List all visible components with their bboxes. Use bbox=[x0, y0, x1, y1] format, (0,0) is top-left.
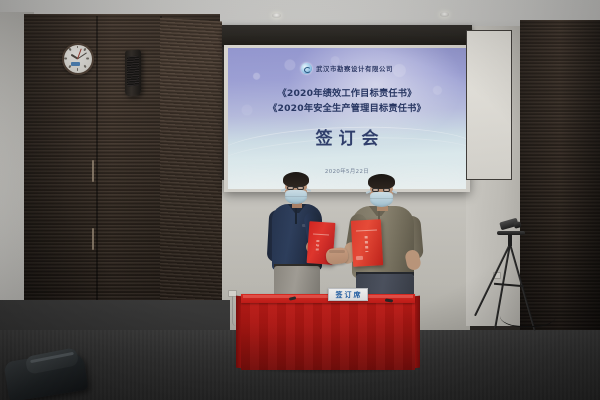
slide-document-title-2: 《2020年安全生产管理目标责任书》 bbox=[228, 100, 466, 114]
wall-clock bbox=[62, 43, 94, 75]
projector-screen: 武汉市勘察设计有限公司 《2020年绩效工作目标责任书》 《2020年安全生产管… bbox=[228, 48, 466, 189]
folder-seal bbox=[356, 256, 363, 260]
table-name-card-text: 签订席 bbox=[334, 290, 363, 300]
slide-logo-row: 武汉市勘察设计有限公司 bbox=[228, 63, 466, 74]
face-mask-icon bbox=[370, 192, 393, 207]
face-mask-fold bbox=[285, 196, 307, 197]
ceiling-spotlight-icon bbox=[440, 12, 449, 17]
company-swirl-logo-icon bbox=[301, 63, 312, 74]
person-right-hair bbox=[368, 174, 395, 189]
slide-document-title-1: 《2020年绩效工作目标责任书》 bbox=[228, 85, 466, 99]
glasses-bridge bbox=[294, 187, 297, 188]
photo-scene: 武汉市勘察设计有限公司 《2020年绩效工作目标责任书》 《2020年安全生产管… bbox=[0, 0, 600, 400]
table-name-card: 签订席 bbox=[328, 288, 368, 301]
handshake-knuckles bbox=[329, 250, 345, 253]
clock-face-icon bbox=[62, 43, 94, 75]
tripod-head-plate bbox=[497, 231, 525, 235]
table-red-cloth bbox=[241, 302, 415, 370]
tripod-neck bbox=[508, 234, 512, 246]
slide-company-name: 武汉市勘察设计有限公司 bbox=[316, 64, 393, 73]
slide-heading: 签订会 bbox=[228, 124, 466, 149]
wood-slat-wall-right-shading bbox=[520, 20, 600, 340]
clock-brand-badge bbox=[71, 62, 80, 66]
person-left-hair bbox=[283, 172, 309, 187]
projector-screen-valance bbox=[222, 25, 472, 47]
slide-date: 2020年5月22日 bbox=[228, 167, 466, 175]
person-left-placket bbox=[295, 208, 297, 224]
ceiling-spotlight-icon bbox=[272, 13, 281, 18]
face-mask-icon bbox=[285, 190, 307, 204]
door-handle[interactable] bbox=[92, 228, 94, 250]
speaker-grill-icon bbox=[127, 56, 139, 87]
whiteboard bbox=[466, 30, 512, 180]
door-handle[interactable] bbox=[92, 160, 94, 182]
face-mask-fold bbox=[370, 198, 393, 199]
tripod-cable bbox=[500, 300, 556, 327]
